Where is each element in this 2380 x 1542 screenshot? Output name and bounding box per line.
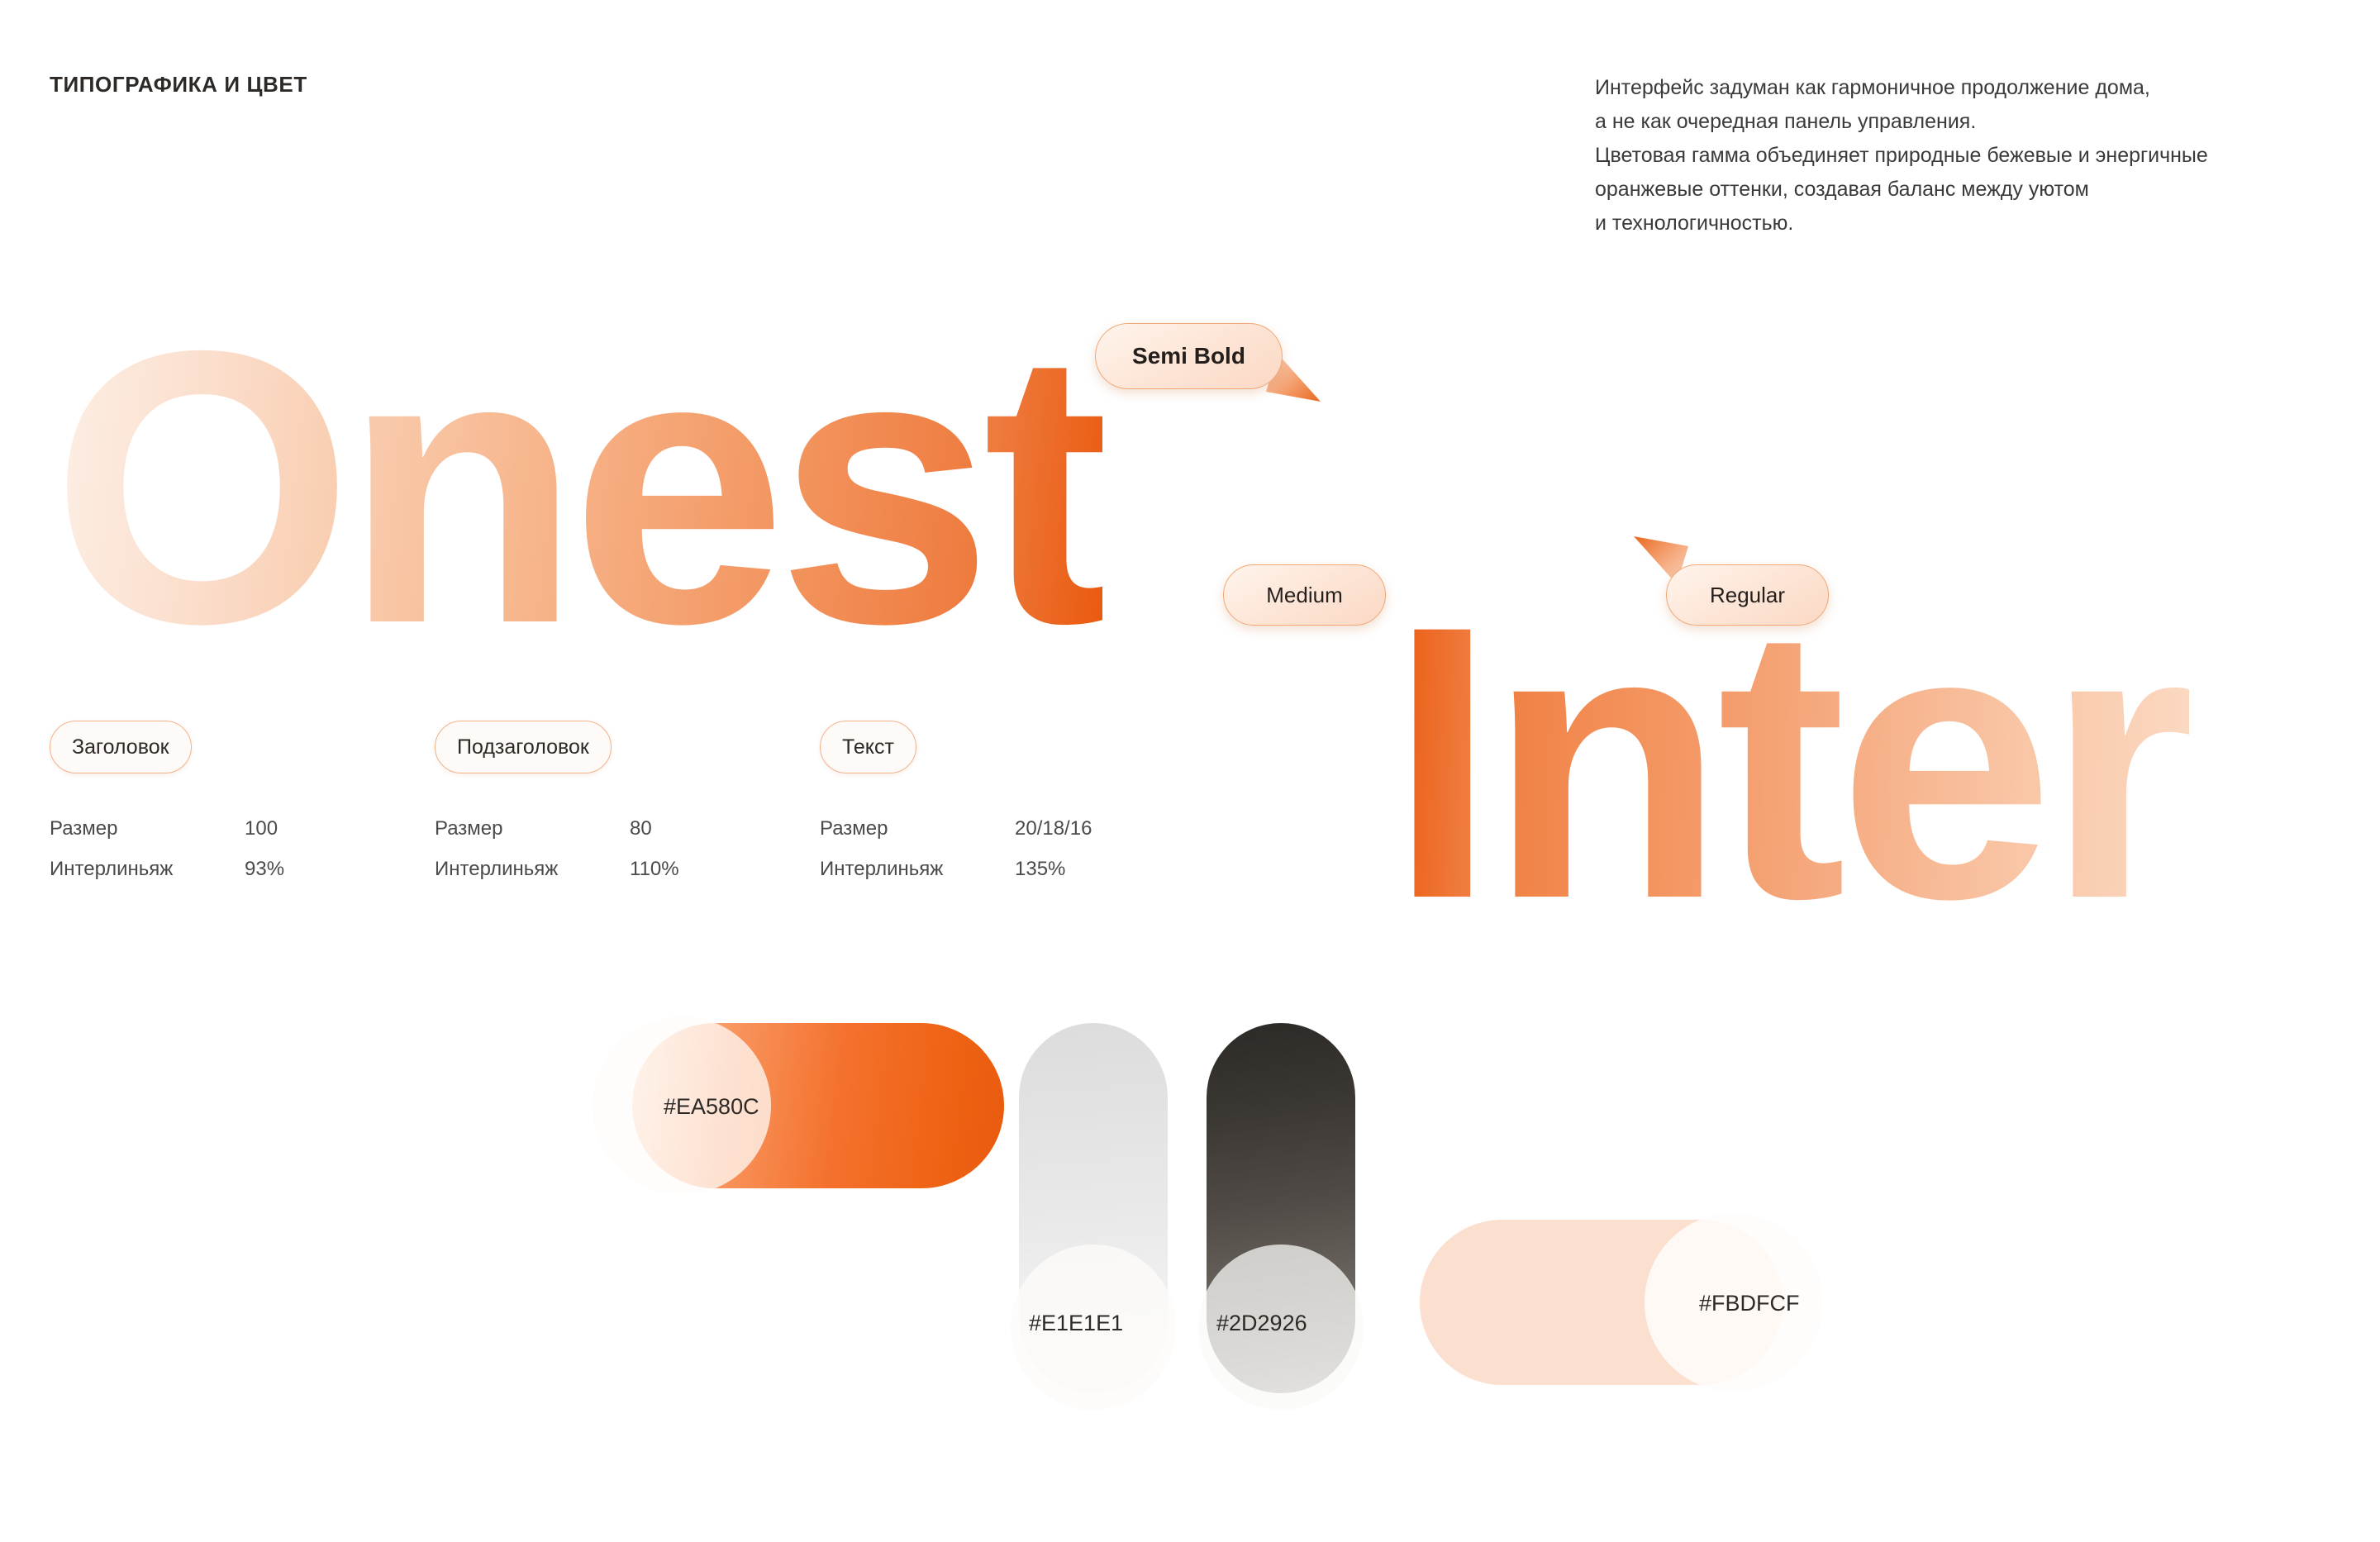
type-spec-column-heading: Заголовок Размер 100 Интерлиньяж 93% (50, 721, 435, 889)
swatch-fill (632, 1023, 1004, 1188)
type-spec-leading-label: Интерлиньяж (820, 858, 1015, 881)
swatch-highlight-disc (1198, 1245, 1364, 1410)
color-swatch-accent-soft[interactable]: #FBDFCF (1420, 1220, 1783, 1385)
type-spec-size-label: Размер (820, 817, 1015, 840)
type-spec-leading-row: Интерлиньяж 93% (50, 849, 435, 889)
typeface-specimen-onest: Onest (51, 293, 1102, 682)
color-swatch-hex-label: #2D2926 (1216, 1311, 1307, 1336)
type-spec-table-heading: Размер 100 Интерлиньяж 93% (50, 808, 435, 889)
type-spec-table-body: Размер 20/18/16 Интерлиньяж 135% (820, 808, 1205, 889)
color-swatch-hex-label: #EA580C (664, 1094, 759, 1120)
type-spec-size-row: Размер 80 (435, 808, 820, 849)
color-swatch-hex-label: #E1E1E1 (1029, 1311, 1123, 1336)
weight-badge-medium[interactable]: Medium (1223, 564, 1386, 626)
type-spec-column-body: Текст Размер 20/18/16 Интерлиньяж 135% (820, 721, 1205, 889)
type-spec-leading-label: Интерлиньяж (50, 858, 245, 881)
swatch-highlight-disc (593, 1016, 771, 1195)
color-swatch-neutral-dark[interactable]: #2D2926 (1207, 1023, 1355, 1393)
type-spec-size-value: 100 (245, 817, 278, 840)
page-title: ТИПОГРАФИКА И ЦВЕТ (50, 72, 307, 98)
weight-badge-regular[interactable]: Regular (1666, 564, 1829, 626)
type-spec-size-value: 80 (630, 817, 652, 840)
type-spec-leading-value: 135% (1015, 858, 1065, 881)
type-spec-leading-row: Интерлиньяж 110% (435, 849, 820, 889)
intro-paragraph: Интерфейс задуман как гармоничное продол… (1595, 71, 2355, 240)
color-swatch-accent[interactable]: #EA580C (632, 1023, 1004, 1188)
swatch-fill (1420, 1220, 1783, 1385)
weight-badge-semi-bold[interactable]: Semi Bold (1095, 323, 1283, 389)
type-spec-table-subheading: Размер 80 Интерлиньяж 110% (435, 808, 820, 889)
swatch-highlight-disc (1011, 1245, 1176, 1410)
type-spec-leading-value: 110% (630, 858, 679, 881)
type-spec-chip-heading[interactable]: Заголовок (50, 721, 192, 773)
type-spec-chip-subheading[interactable]: Подзаголовок (435, 721, 612, 773)
color-swatch-neutral-light[interactable]: #E1E1E1 (1019, 1023, 1168, 1393)
type-spec-row: Заголовок Размер 100 Интерлиньяж 93% Под… (50, 721, 1205, 889)
type-spec-leading-label: Интерлиньяж (435, 858, 630, 881)
type-spec-size-label: Размер (435, 817, 630, 840)
type-spec-leading-row: Интерлиньяж 135% (820, 849, 1205, 889)
type-spec-size-row: Размер 100 (50, 808, 435, 849)
type-spec-size-row: Размер 20/18/16 (820, 808, 1205, 849)
swatch-highlight-disc (1645, 1213, 1823, 1392)
type-spec-leading-value: 93% (245, 858, 284, 881)
color-swatch-hex-label: #FBDFCF (1699, 1291, 1800, 1316)
swatch-fill (1019, 1023, 1168, 1393)
type-spec-size-value: 20/18/16 (1015, 817, 1092, 840)
typeface-specimen-inter: Inter (1388, 569, 2189, 957)
type-spec-size-label: Размер (50, 817, 245, 840)
type-spec-chip-body[interactable]: Текст (820, 721, 916, 773)
type-spec-column-subheading: Подзаголовок Размер 80 Интерлиньяж 110% (435, 721, 820, 889)
swatch-fill (1207, 1023, 1355, 1393)
